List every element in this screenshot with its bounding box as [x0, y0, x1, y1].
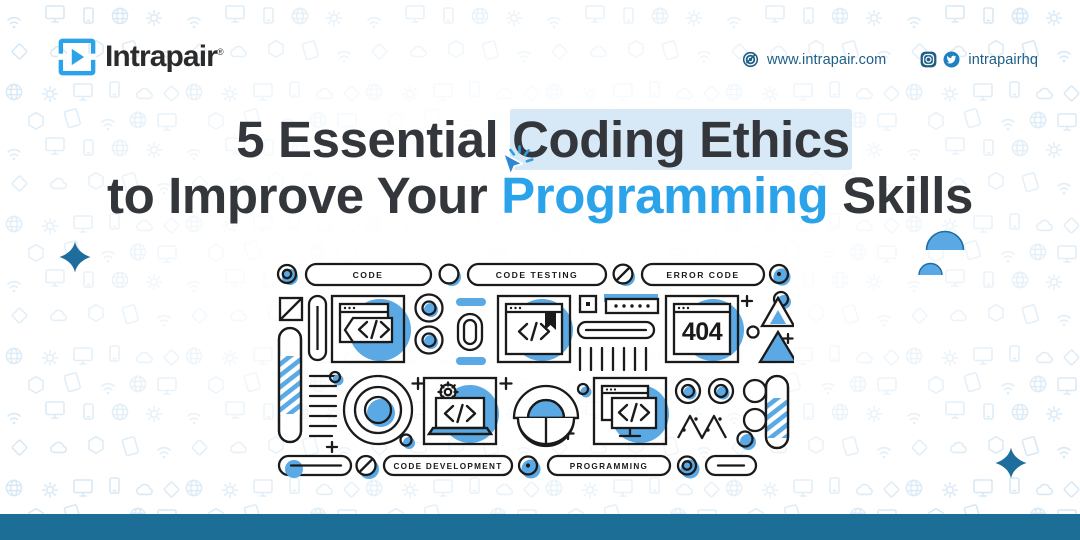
pill-label-programming: PROGRAMMING — [570, 462, 648, 471]
globe-icon — [742, 51, 759, 68]
play-square-icon — [58, 38, 96, 76]
headline-line2-prefix: to Improve Your — [107, 167, 501, 224]
headline-accent-word: Programming — [501, 167, 828, 224]
twitter-icon[interactable] — [943, 51, 960, 68]
brand-trademark: ® — [217, 47, 224, 57]
striped-dome-small — [918, 258, 943, 276]
website-label: www.intrapair.com — [767, 52, 886, 68]
pill-label-code-testing: CODE TESTING — [496, 270, 578, 280]
four-point-star-left — [58, 240, 92, 274]
instagram-icon[interactable] — [920, 51, 937, 68]
brand-logo[interactable]: Intrapair® — [58, 38, 224, 76]
brand-name: Intrapair — [105, 40, 217, 73]
mouse-pointer-click-icon — [495, 141, 541, 187]
website-link[interactable]: www.intrapair.com — [742, 51, 886, 68]
social-links[interactable]: intrapairhq — [920, 51, 1038, 68]
brand-wordmark: Intrapair® — [105, 42, 224, 72]
social-handle-label: intrapairhq — [968, 52, 1038, 68]
pill-label-code-development: CODE DEVELOPMENT — [393, 462, 502, 471]
headline-highlight: Coding Ethics — [512, 111, 850, 168]
social-icon-group — [920, 51, 960, 68]
pill-label-code: CODE — [353, 270, 384, 280]
pill-label-error-code: ERROR CODE — [666, 270, 739, 280]
headline-line1-prefix: 5 Essential — [236, 111, 512, 168]
page-header: Intrapair® www.intrapair.com — [0, 0, 1080, 100]
striped-dome-large — [925, 222, 965, 252]
footer-bar — [0, 514, 1080, 540]
coding-icon-collage: CODE CODE TESTING ERROR CODE — [266, 258, 794, 483]
headline-line2-suffix: Skills — [828, 167, 973, 224]
error-code-text: 404 — [682, 318, 723, 346]
four-point-star-right — [994, 446, 1028, 480]
header-contacts: www.intrapair.com intrapairhq — [742, 51, 1038, 68]
